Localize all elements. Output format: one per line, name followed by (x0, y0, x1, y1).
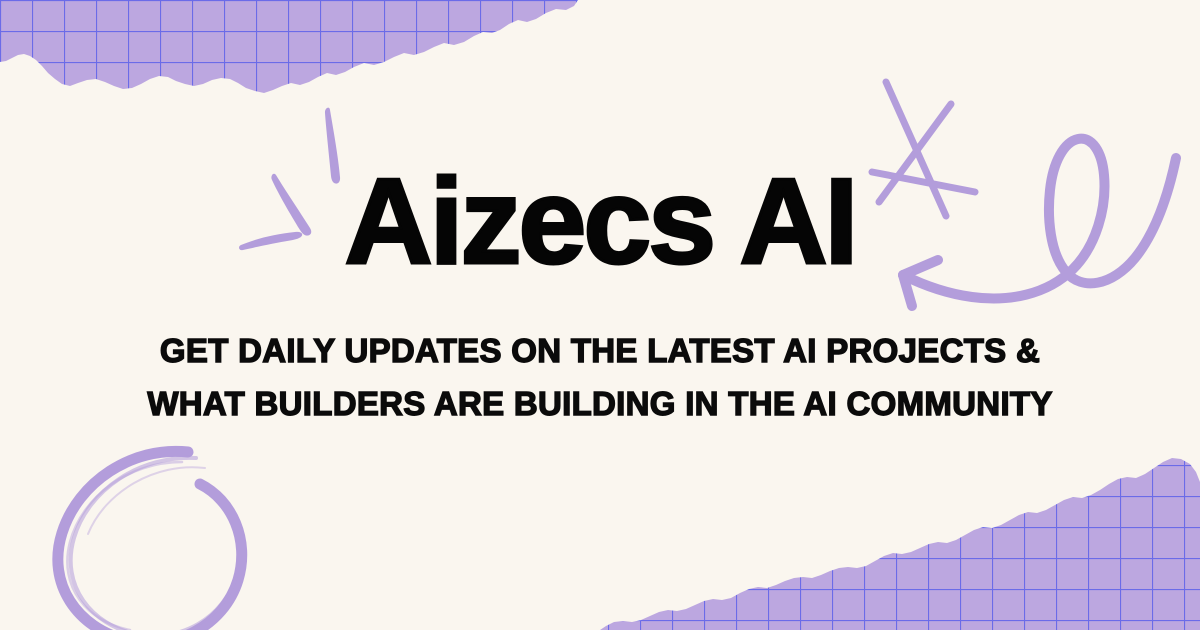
hero-content: Aizecs AI GET DAILY UPDATES ON THE LATES… (0, 0, 1200, 630)
poster-canvas: Aizecs AI GET DAILY UPDATES ON THE LATES… (0, 0, 1200, 630)
tagline-line-2: WHAT BUILDERS ARE BUILDING IN THE AI COM… (0, 385, 1200, 423)
page-title: Aizecs AI (0, 160, 1200, 282)
tagline-line-1: GET DAILY UPDATES ON THE LATEST AI PROJE… (0, 332, 1200, 370)
